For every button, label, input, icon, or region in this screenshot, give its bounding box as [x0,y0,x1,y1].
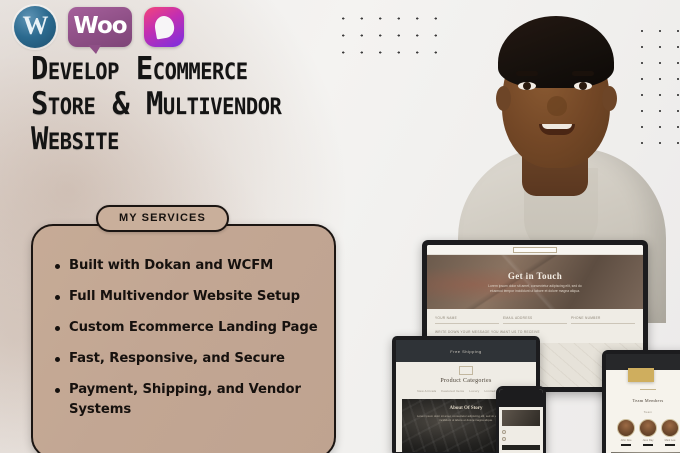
tablet-right-subtitle: Team [606,410,680,414]
phone-mockup [496,386,546,453]
list-item: Built with Dokan and WCFM [55,256,324,276]
bullet-icon [55,326,60,331]
tablet-left-brand-logo-icon [396,362,536,378]
eyebrow-right [572,71,594,76]
tablet-left-nav-label: Free Shipping [450,349,481,354]
laptop-hero: Get in Touch Lorem ipsum dolor sit amet,… [427,255,643,309]
phone-content [499,407,543,453]
laptop-field: EMAIL ADDRESS [503,316,567,324]
tab-item: New Arrivals [417,389,436,393]
bullet-icon [55,357,60,362]
phone-image [502,410,540,426]
avatar [661,419,679,437]
avatar [639,419,657,437]
woocommerce-logo-text: Woo [73,13,126,39]
phone-screen [499,389,543,453]
service-text: Payment, Shipping, and Vendor Systems [69,380,324,420]
bullet-icon [55,388,60,393]
dot-grid-top-icon [330,4,442,54]
phone-statusbar [499,389,543,407]
dokan-logo-icon [144,7,184,47]
tablet-right-team-grid: John Doe Jane Ray Mark Lee [606,419,680,446]
eye-right [574,82,592,90]
wordpress-logo-letter: W [23,13,48,39]
wordpress-logo-icon: W [14,6,56,48]
list-item: Fast, Responsive, and Secure [55,349,324,369]
team-member: Mark Lee [661,419,679,446]
laptop-field: PHONE NUMBER [571,316,635,324]
service-text: Full Multivendor Website Setup [69,287,300,307]
nose-shape [547,96,567,116]
tablet-right-title: Team Members [606,398,680,403]
tab-item: Luxury [469,389,479,393]
ear-left [496,86,511,111]
eyebrow-left [516,71,538,76]
team-member-role-bar [621,444,631,446]
team-member: John Doe [617,419,635,446]
team-member-name: Mark Lee [661,439,679,442]
laptop-brand-logo-icon [513,247,557,253]
tablet-left-navbar: Free Shipping [396,340,536,362]
laptop-field-label: YOUR NAME [435,316,499,320]
laptop-field-label: EMAIL ADDRESS [503,316,567,320]
tablet-left-title: Product Categories [396,378,536,384]
service-text: Custom Ecommerce Landing Page [69,318,318,338]
services-list: Built with Dokan and WCFM Full Multivend… [55,256,324,431]
phone-radio-icon [502,437,506,441]
bullet-icon [55,295,60,300]
brand-logo-row: W Woo [14,6,184,48]
team-member: Jane Ray [639,419,657,446]
service-text: Fast, Responsive, and Secure [69,349,285,369]
services-card: Built with Dokan and WCFM Full Multivend… [31,224,336,453]
service-text: Built with Dokan and WCFM [69,256,273,276]
tab-item: Featured Items [441,389,464,393]
list-item: Full Multivendor Website Setup [55,287,324,307]
avatar [617,419,635,437]
bullet-icon [55,264,60,269]
laptop-form-fields: YOUR NAME EMAIL ADDRESS PHONE NUMBER [427,309,643,327]
phone-radio-icon [502,430,506,434]
ear-right [602,86,617,111]
my-services-badge: MY SERVICES [96,205,229,232]
laptop-field: YOUR NAME [435,316,499,324]
phone-option-list [502,430,540,441]
laptop-hero-text: Lorem ipsum dolor sit amet, consectetur … [485,284,585,294]
phone-cta-button [502,445,540,450]
mouth-shape [539,124,575,135]
device-mockups: Get in Touch Lorem ipsum dolor sit amet,… [398,228,680,453]
woocommerce-logo-icon: Woo [68,7,132,47]
team-member-role-bar [665,444,675,446]
gold-accent-tag [628,368,654,382]
team-member-name: John Doe [617,439,635,442]
team-member-role-bar [643,444,653,446]
team-member-name: Jane Ray [639,439,657,442]
thumbnail-canvas: W Woo Develop Ecommerce Store & Multiven… [0,0,680,453]
laptop-hero-title: Get in Touch [508,271,562,281]
hair-shape [498,16,614,88]
laptop-navbar [427,245,643,255]
tablet-mockup-right: Team Members Team John Doe Jane Ray [602,350,680,453]
eye-left [518,82,536,90]
laptop-field-label: PHONE NUMBER [571,316,635,320]
headline-line-3: Website [31,122,347,157]
list-item: Payment, Shipping, and Vendor Systems [55,380,324,420]
headline-line-1: Develop Ecommerce [31,52,347,87]
list-item: Custom Ecommerce Landing Page [55,318,324,338]
headline-line-2: Store & Multivendor [31,87,347,122]
page-title: Develop Ecommerce Store & Multivendor We… [31,52,371,157]
